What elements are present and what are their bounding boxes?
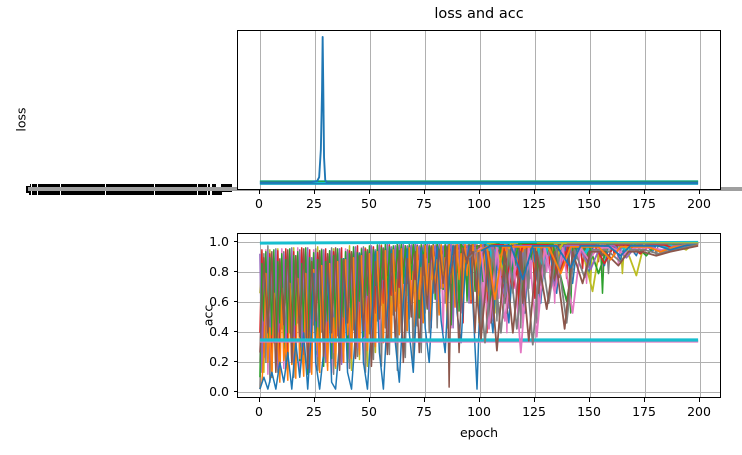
ticklabel-x-175: 175	[622, 404, 666, 419]
ticklabel-x-150: 150	[567, 404, 611, 419]
tick-x-75	[424, 190, 425, 194]
acc-x-axis-label: epoch	[237, 425, 721, 440]
tick-x-150	[589, 398, 590, 402]
tick-x-125	[534, 190, 535, 194]
matplotlib-figure: loss and acc loss	[0, 0, 742, 455]
tick-y-1.0	[234, 241, 238, 242]
ticklabel-y-0.6: 0.6	[195, 294, 229, 309]
ticklabel-x-175: 175	[622, 196, 666, 211]
ticklabel-x-200: 200	[677, 196, 721, 211]
ticklabel-x-25: 25	[292, 404, 336, 419]
ticklabel-x-100: 100	[457, 404, 501, 419]
tick-x-50	[369, 398, 370, 402]
blob-edge	[222, 192, 232, 196]
tick-y-0.4	[234, 331, 238, 332]
ticklabel-x-150: 150	[567, 196, 611, 211]
ticklabel-y-0.2: 0.2	[195, 354, 229, 369]
tick-y-0.8	[234, 271, 238, 272]
tick-x-0	[259, 398, 260, 402]
tick-y-0.6	[234, 301, 238, 302]
ticklabel-x-50: 50	[347, 404, 391, 419]
ticklabel-x-75: 75	[402, 196, 446, 211]
tick-x-50	[369, 190, 370, 194]
ticklabel-y-0.0: 0.0	[195, 384, 229, 399]
tick-x-25	[314, 190, 315, 194]
ticklabel-y-0.8: 0.8	[195, 264, 229, 279]
tick-x-200	[699, 398, 700, 402]
tick-x-100	[479, 398, 480, 402]
tick-x-125	[534, 398, 535, 402]
acc-plot-lines	[238, 234, 720, 397]
ticklabel-y-1.0: 1.0	[195, 234, 229, 249]
loss-axes	[237, 30, 721, 190]
ticklabel-x-100: 100	[457, 196, 501, 211]
ticklabel-x-0: 0	[237, 196, 281, 211]
tick-x-25	[314, 398, 315, 402]
tick-y-0.0	[234, 391, 238, 392]
tick-x-0	[259, 190, 260, 194]
loss-plot-lines	[238, 31, 720, 189]
ticklabel-x-0: 0	[237, 404, 281, 419]
acc-axes	[237, 233, 721, 398]
tick-x-200	[699, 190, 700, 194]
figure-title: loss and acc	[237, 5, 721, 23]
ticklabel-x-125: 125	[512, 404, 556, 419]
ticklabel-x-25: 25	[292, 196, 336, 211]
ticklabel-x-200: 200	[677, 404, 721, 419]
tick-x-175	[644, 190, 645, 194]
ticklabel-y-0.4: 0.4	[195, 324, 229, 339]
tick-x-150	[589, 190, 590, 194]
tick-y-0.2	[234, 361, 238, 362]
tick-x-100	[479, 190, 480, 194]
ticklabel-x-125: 125	[512, 196, 556, 211]
blob-edge	[26, 193, 29, 196]
loss-y-axis-label: loss	[14, 90, 29, 150]
tick-x-75	[424, 398, 425, 402]
ticklabel-x-50: 50	[347, 196, 391, 211]
tick-x-175	[644, 398, 645, 402]
ticklabel-x-75: 75	[402, 404, 446, 419]
